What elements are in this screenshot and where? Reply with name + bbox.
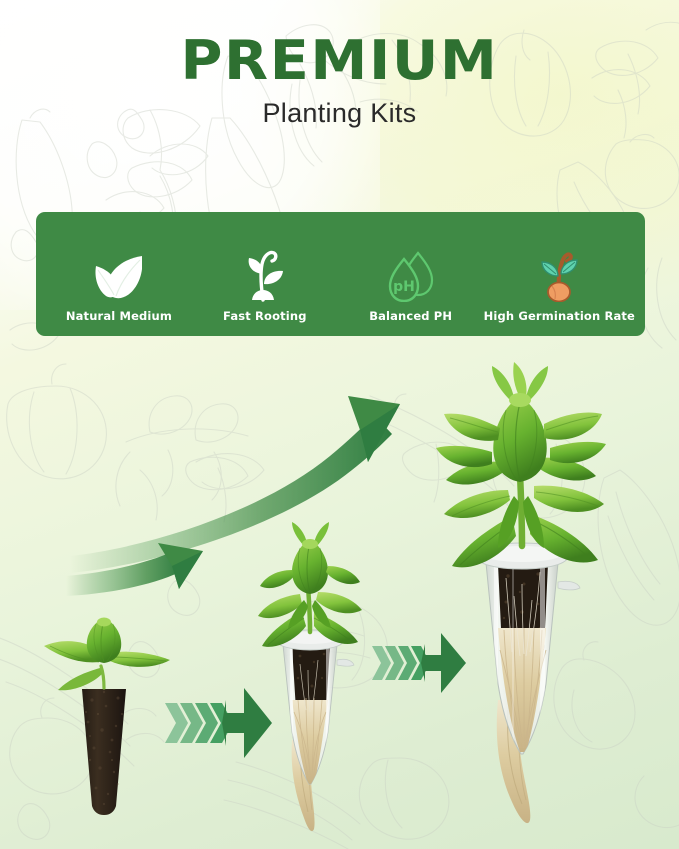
page-title: PREMIUM [0, 34, 679, 88]
feature-item-balanced-ph[interactable]: pH Balanced PH [338, 250, 484, 323]
germinating-seed-icon [535, 250, 583, 302]
feature-bar: Natural Medium Fast Rooting [36, 212, 645, 336]
two-leaves-icon [92, 250, 146, 302]
feature-item-natural-medium[interactable]: Natural Medium [46, 250, 192, 323]
poster-canvas: PREMIUM Planting Kits Natural Medium [0, 0, 679, 849]
growth-stage-2-young-plant[interactable] [250, 515, 370, 835]
feature-item-fast-rooting[interactable]: Fast Rooting [192, 250, 338, 323]
feature-item-high-germination-rate[interactable]: High Germination Rate [484, 250, 635, 323]
feature-label: Fast Rooting [223, 311, 307, 323]
growth-stage-1-seedling[interactable] [40, 610, 190, 825]
svg-text:pH: pH [393, 279, 415, 295]
feature-label: High Germination Rate [484, 311, 635, 323]
growth-stage-3-mature-plant[interactable] [430, 395, 615, 835]
feature-label: Balanced PH [369, 311, 452, 323]
ph-droplets-icon: pH [385, 250, 437, 302]
poster-header: PREMIUM Planting Kits [0, 34, 679, 127]
page-subtitle: Planting Kits [0, 100, 679, 127]
sprout-icon [241, 250, 289, 302]
feature-label: Natural Medium [66, 311, 172, 323]
